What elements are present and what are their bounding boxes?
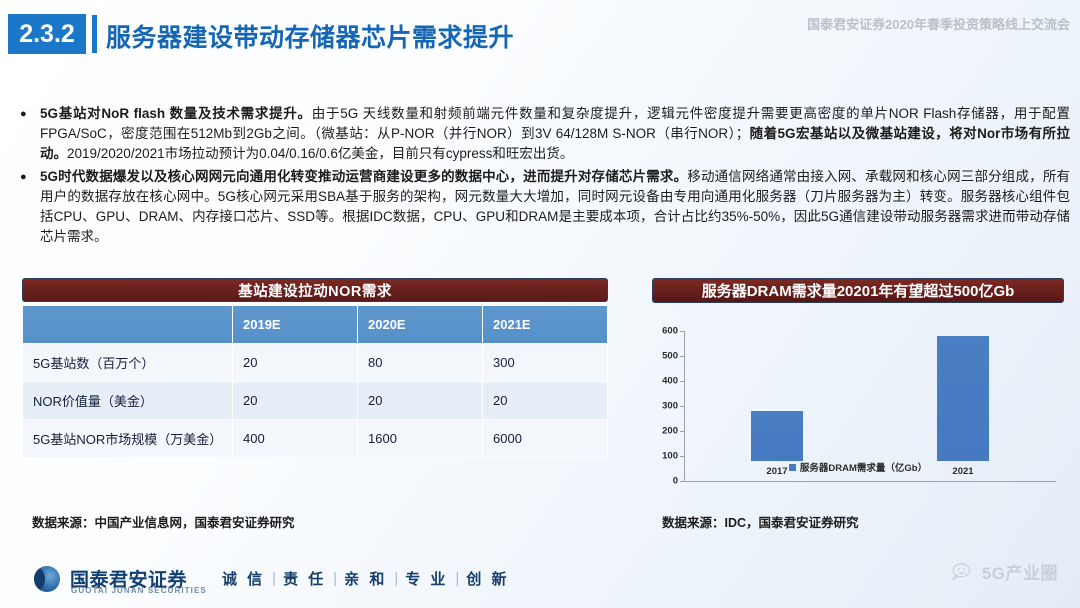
table-source-note: 数据来源：中国产业信息网，国泰君安证券研究	[32, 512, 295, 531]
body-content: 5G基站对NoR flash 数量及技术需求提升。由于5G 天线数量和射频前端元…	[18, 104, 1070, 250]
chart-source-note: 数据来源：IDC，国泰君安证券研究	[662, 512, 859, 531]
guotai-junan-logo-icon	[34, 566, 60, 592]
footer-slogan: 诚 信|责 任|亲 和|专 业|创 新	[222, 568, 509, 589]
slogan-separator: |	[272, 570, 276, 587]
bullet-paragraph: 5G时代数据爆发以及核心网网元向通用化转变推动运营商建设更多的数据中心，进而提升…	[40, 167, 1070, 247]
slogan-word: 诚 信	[222, 568, 265, 589]
table-row: NOR价值量（美金） 20 20 20	[23, 382, 608, 420]
page-footer: 国泰君安证券 GUOTAI JUNAN SECURITIES 诚 信|责 任|亲…	[0, 556, 1080, 600]
page-title: 服务器建设带动存储器芯片需求提升	[106, 18, 514, 54]
logo-english-name: GUOTAI JUNAN SECURITIES	[71, 586, 207, 595]
slogan-word: 专 业	[405, 568, 448, 589]
row-label: 5G基站数（百万个）	[23, 344, 233, 382]
row-label: 5G基站NOR市场规模（万美金）	[23, 420, 233, 458]
table-row: 5G基站NOR市场规模（万美金） 400 1600 6000	[23, 420, 608, 458]
slogan-word: 责 任	[283, 568, 326, 589]
bullet-lead-text: 5G时代数据爆发以及核心网网元向通用化转变推动运营商建设更多的数据中心，进而提升…	[40, 169, 687, 184]
slogan-separator: |	[333, 570, 337, 587]
row-value: 6000	[483, 420, 608, 458]
table-col-header-2020: 2020E	[358, 306, 483, 344]
y-axis-tick-label: 0	[652, 476, 678, 487]
y-axis-tick	[680, 406, 684, 407]
y-axis-tick-label: 200	[652, 426, 678, 437]
bullet-body-text-2: 2019/2020/2021市场拉动预计为0.04/0.16/0.6亿美金，目前…	[67, 146, 573, 161]
wechat-icon	[952, 562, 976, 582]
row-value: 20	[233, 344, 358, 382]
slogan-separator: |	[455, 570, 459, 587]
table-body: 5G基站数（百万个） 20 80 300 NOR价值量（美金） 20 20 20…	[23, 344, 608, 458]
table-col-header-2021: 2021E	[483, 306, 608, 344]
y-axis-tick-label: 500	[652, 351, 678, 362]
bullet-item: 5G基站对NoR flash 数量及技术需求提升。由于5G 天线数量和射频前端元…	[18, 104, 1070, 164]
table-head: 2019E 2020E 2021E	[23, 306, 608, 344]
table-header-row: 2019E 2020E 2021E	[23, 306, 608, 344]
watermark: 5G产业圈	[952, 559, 1058, 584]
row-value: 20	[233, 382, 358, 420]
header-divider	[92, 15, 97, 53]
section-number-badge: 2.3.2	[8, 14, 86, 54]
watermark-text: 5G产业圈	[982, 559, 1058, 584]
nor-demand-table: 2019E 2020E 2021E 5G基站数（百万个） 20 80 300 N…	[22, 305, 608, 458]
y-axis-tick-label: 400	[652, 376, 678, 387]
y-axis-tick	[680, 481, 684, 482]
chart-bar	[937, 336, 989, 461]
bullet-paragraph: 5G基站对NoR flash 数量及技术需求提升。由于5G 天线数量和射频前端元…	[40, 104, 1070, 164]
row-value: 300	[483, 344, 608, 382]
y-axis-tick	[680, 431, 684, 432]
table-col-header-2019: 2019E	[233, 306, 358, 344]
row-value: 400	[233, 420, 358, 458]
row-value: 20	[483, 382, 608, 420]
slogan-separator: |	[394, 570, 398, 587]
y-axis-tick	[680, 456, 684, 457]
row-label: NOR价值量（美金）	[23, 382, 233, 420]
table-title-banner: 基站建设拉动NOR需求	[22, 278, 608, 302]
chart-legend: 服务器DRAM需求量（亿Gb）	[652, 460, 1064, 474]
table-col-header-label	[23, 306, 233, 344]
slogan-word: 亲 和	[344, 568, 387, 589]
x-axis-line	[684, 481, 1056, 482]
bar-chart-plot: 600500400300200100020172021	[652, 311, 1064, 481]
y-axis-tick-label: 300	[652, 401, 678, 412]
row-value: 20	[358, 382, 483, 420]
chart-bar	[751, 411, 803, 461]
legend-swatch-icon	[789, 464, 796, 471]
table-row: 5G基站数（百万个） 20 80 300	[23, 344, 608, 382]
bullet-lead-text: 5G基站对NoR flash 数量及技术需求提升。	[40, 106, 312, 121]
y-axis-tick	[680, 356, 684, 357]
y-axis-line	[684, 331, 685, 481]
y-axis-tick	[680, 381, 684, 382]
header-conference-label: 国泰君安证券2020年春季投资策略线上交流会	[807, 14, 1070, 33]
y-axis-tick-label: 600	[652, 326, 678, 337]
legend-label: 服务器DRAM需求量（亿Gb）	[800, 460, 927, 474]
chart-title-banner: 服务器DRAM需求量20201年有望超过500亿Gb	[652, 278, 1064, 303]
slogan-word: 创 新	[466, 568, 509, 589]
bullet-item: 5G时代数据爆发以及核心网网元向通用化转变推动运营商建设更多的数据中心，进而提升…	[18, 167, 1070, 247]
chart-panel: 服务器DRAM需求量20201年有望超过500亿Gb 6005004003002…	[652, 278, 1064, 481]
row-value: 80	[358, 344, 483, 382]
y-axis-tick	[680, 331, 684, 332]
row-value: 1600	[358, 420, 483, 458]
table-panel: 基站建设拉动NOR需求 2019E 2020E 2021E 5G基站数（百万个）…	[22, 278, 608, 458]
